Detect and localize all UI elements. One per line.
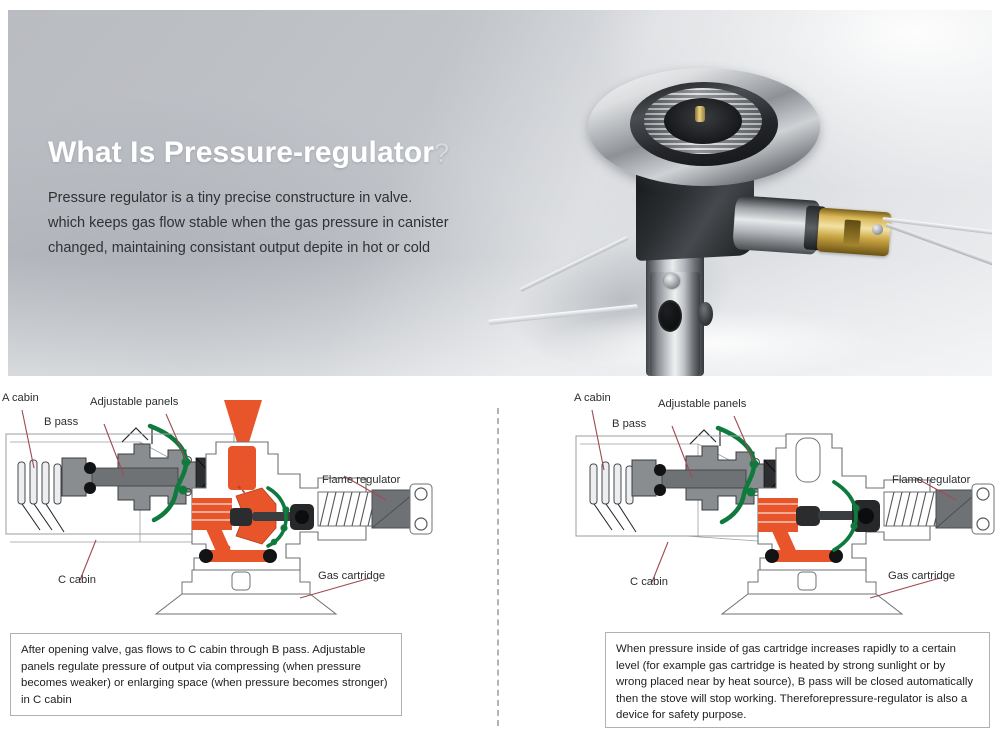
brass-jet-slot: [843, 219, 861, 246]
label-flame-regulator-right: Flame regulator: [892, 474, 970, 486]
seal-lower: [84, 482, 96, 494]
seal-upper: [84, 462, 96, 474]
center-pin: [695, 106, 705, 122]
diagram-right: A cabin B pass Adjustable panels C cabin…: [570, 392, 1000, 642]
seal-lower-right: [654, 484, 666, 496]
core-hub-left: [230, 508, 252, 526]
cartridge-port: [232, 572, 250, 590]
caption-left: After opening valve, gas flows to C cabi…: [10, 633, 402, 716]
piston-shaft: [92, 468, 178, 486]
photo-floor-glow: [548, 310, 878, 376]
label-flame-regulator-left: Flame regulator: [322, 474, 400, 486]
flange-hole-upper: [415, 488, 427, 500]
label-gas-cartridge-right: Gas cartridge: [888, 570, 955, 582]
a-cabin-lines-right: [594, 504, 636, 532]
label-a-cabin-left: A cabin: [2, 392, 39, 404]
main-cross-section-right: [722, 434, 994, 614]
body-screw: [664, 273, 680, 289]
label-b-pass-right: B pass: [612, 418, 646, 430]
vent-hole-large: [658, 300, 682, 332]
flange-hole-upper-right: [977, 488, 989, 500]
piston-shaft-right: [662, 470, 746, 488]
core-center-right: [858, 508, 874, 524]
diagram-left: A cabin B pass Adjustable panels C cabin…: [0, 392, 480, 642]
diaphragm-node-lower-right: [747, 488, 756, 497]
flange-hole-lower: [415, 518, 427, 530]
label-c-cabin-left: C cabin: [58, 574, 96, 586]
chamber-outline-right: [690, 428, 720, 446]
b-pass-closed-column: [796, 438, 820, 482]
a-cabin-springs-right: [590, 462, 633, 504]
main-diaphragm-node-b-right: [850, 522, 857, 529]
gas-column: [228, 446, 256, 490]
core-center: [295, 510, 309, 524]
main-diaphragm-node-b: [280, 524, 287, 531]
label-adjustable-panels-left: Adjustable panels: [90, 396, 178, 408]
caption-right: When pressure inside of gas cartridge in…: [605, 632, 990, 728]
label-b-pass-left: B pass: [44, 416, 78, 428]
cartridge-port-right: [798, 572, 816, 590]
pivot-left: [199, 549, 213, 563]
page-title-question-mark: ?: [434, 138, 449, 168]
main-diaphragm-node-a: [282, 506, 289, 513]
label-c-cabin-right: C cabin: [630, 576, 668, 588]
pivot-right-right: [829, 549, 843, 563]
a-cabin-springs: [18, 460, 61, 504]
label-a-cabin-right: A cabin: [574, 392, 611, 404]
a-cabin-lines: [22, 504, 64, 532]
main-diaphragm-node-a-right: [852, 504, 859, 511]
diaphragm-node-lower: [179, 486, 188, 495]
hero-description-line-2: which keeps gas flow stable when the gas…: [48, 211, 518, 236]
gas-cartridge-top: [156, 594, 336, 614]
main-diaphragm-node-c: [271, 539, 277, 545]
seal-upper-right: [654, 464, 666, 476]
label-adjustable-panels-right: Adjustable panels: [658, 398, 746, 410]
pivot-right: [263, 549, 277, 563]
vertical-dashed-divider: [497, 408, 499, 726]
main-cross-section: [156, 400, 432, 614]
hero-banner: What Is Pressure-regulator? Pressure reg…: [8, 10, 992, 376]
diagram-left-svg: [0, 392, 480, 642]
page-title-text: What Is Pressure-regulator: [48, 136, 434, 169]
vent-hole-small: [698, 302, 713, 326]
core-hub-left-right: [796, 506, 820, 526]
page-title: What Is Pressure-regulator?: [48, 136, 449, 170]
flange-hole-lower-right: [977, 518, 989, 530]
hero-description: Pressure regulator is a tiny precise con…: [48, 186, 518, 261]
pivot-left-right: [765, 549, 779, 563]
chamber-outline: [122, 426, 152, 444]
product-photo: [478, 10, 992, 376]
label-gas-cartridge-left: Gas cartridge: [318, 570, 385, 582]
pot-support-arm-right: [882, 217, 992, 235]
hero-description-line-3: changed, maintaining consistant output d…: [48, 236, 518, 261]
brass-jet-screw: [872, 224, 883, 235]
hero-description-line-1: Pressure regulator is a tiny precise con…: [48, 186, 518, 211]
